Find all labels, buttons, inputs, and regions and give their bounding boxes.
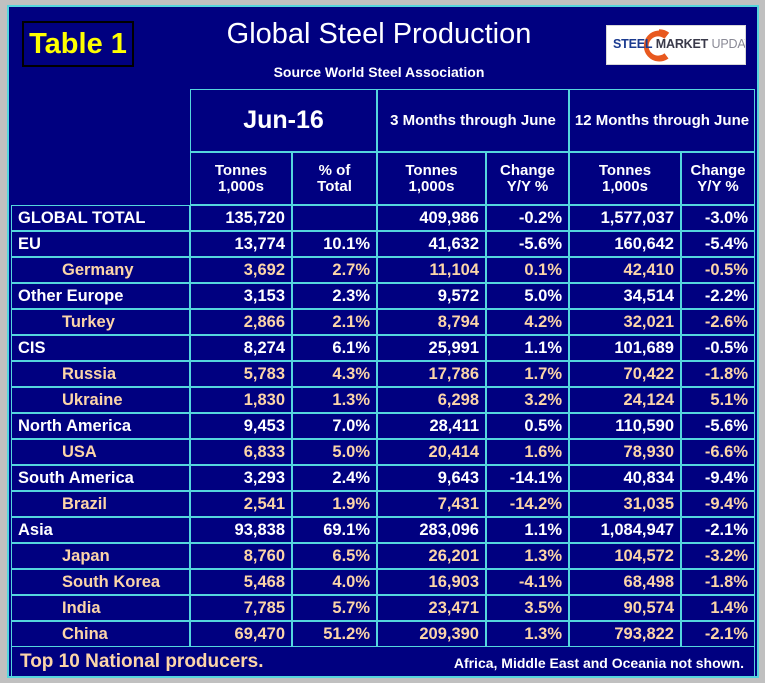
header-col-line2: 1,000s	[602, 179, 648, 195]
row-label-11: Brazil	[11, 491, 190, 517]
cell-15-jun_pct: 5.7%	[292, 595, 377, 621]
cell-11-q3_tonnes: 7,431	[377, 491, 486, 517]
cell-2-jun_pct: 2.7%	[292, 257, 377, 283]
cell-2-q3_chg: 0.1%	[486, 257, 569, 283]
header-col-line1: Tonnes	[599, 163, 651, 179]
cell-12-y12_chg: -2.1%	[681, 517, 755, 543]
cell-10-q3_tonnes: 9,643	[377, 465, 486, 491]
row-label-9: USA	[11, 439, 190, 465]
cell-1-q3_tonnes: 41,632	[377, 231, 486, 257]
header-col-5: Tonnes1,000s	[569, 152, 681, 205]
row-label-3: Other Europe	[11, 283, 190, 309]
cell-8-q3_tonnes: 28,411	[377, 413, 486, 439]
cell-12-jun_pct: 69.1%	[292, 517, 377, 543]
cell-16-q3_chg: 1.3%	[486, 621, 569, 647]
cell-11-jun_pct: 1.9%	[292, 491, 377, 517]
cell-11-y12_tonnes: 31,035	[569, 491, 681, 517]
cell-7-y12_tonnes: 24,124	[569, 387, 681, 413]
cell-4-q3_tonnes: 8,794	[377, 309, 486, 335]
cell-9-jun_tonnes: 6,833	[190, 439, 292, 465]
cell-14-jun_pct: 4.0%	[292, 569, 377, 595]
cell-9-y12_chg: -6.6%	[681, 439, 755, 465]
header-col-line2: Y/Y %	[507, 179, 548, 195]
header-col-line1: Change	[690, 163, 745, 179]
table-footer: Top 10 National producers. Africa, Middl…	[11, 646, 755, 678]
cell-2-y12_tonnes: 42,410	[569, 257, 681, 283]
footer-note-left: Top 10 National producers.	[20, 651, 264, 673]
cell-2-q3_tonnes: 11,104	[377, 257, 486, 283]
data-table: Jun-163 Months through June12 Months thr…	[9, 7, 757, 676]
cell-16-y12_tonnes: 793,822	[569, 621, 681, 647]
cell-14-q3_chg: -4.1%	[486, 569, 569, 595]
cell-10-y12_chg: -9.4%	[681, 465, 755, 491]
row-label-5: CIS	[11, 335, 190, 361]
header-col-line2: Total	[317, 179, 352, 195]
cell-13-jun_pct: 6.5%	[292, 543, 377, 569]
cell-10-jun_tonnes: 3,293	[190, 465, 292, 491]
cell-6-jun_tonnes: 5,783	[190, 361, 292, 387]
cell-5-jun_pct: 6.1%	[292, 335, 377, 361]
table-panel: Table 1 Global Steel Production Source W…	[7, 5, 759, 678]
cell-10-q3_chg: -14.1%	[486, 465, 569, 491]
header-col-line1: Tonnes	[405, 163, 457, 179]
row-label-2: Germany	[11, 257, 190, 283]
row-label-1: EU	[11, 231, 190, 257]
cell-15-y12_chg: 1.4%	[681, 595, 755, 621]
row-label-4: Turkey	[11, 309, 190, 335]
cell-14-y12_chg: -1.8%	[681, 569, 755, 595]
cell-13-y12_tonnes: 104,572	[569, 543, 681, 569]
cell-3-jun_tonnes: 3,153	[190, 283, 292, 309]
cell-13-q3_tonnes: 26,201	[377, 543, 486, 569]
cell-3-q3_chg: 5.0%	[486, 283, 569, 309]
cell-0-y12_chg: -3.0%	[681, 205, 755, 231]
cell-8-jun_tonnes: 9,453	[190, 413, 292, 439]
cell-13-jun_tonnes: 8,760	[190, 543, 292, 569]
row-label-0: GLOBAL TOTAL	[11, 205, 190, 231]
header-col-line2: 1,000s	[218, 179, 264, 195]
cell-3-jun_pct: 2.3%	[292, 283, 377, 309]
cell-9-q3_tonnes: 20,414	[377, 439, 486, 465]
cell-0-y12_tonnes: 1,577,037	[569, 205, 681, 231]
cell-11-q3_chg: -14.2%	[486, 491, 569, 517]
cell-3-y12_chg: -2.2%	[681, 283, 755, 309]
cell-10-jun_pct: 2.4%	[292, 465, 377, 491]
cell-3-q3_tonnes: 9,572	[377, 283, 486, 309]
header-col-line2: Y/Y %	[697, 179, 738, 195]
row-label-7: Ukraine	[11, 387, 190, 413]
row-label-10: South America	[11, 465, 190, 491]
cell-9-y12_tonnes: 78,930	[569, 439, 681, 465]
header-col-line1: % of	[319, 163, 351, 179]
cell-1-y12_tonnes: 160,642	[569, 231, 681, 257]
cell-8-jun_pct: 7.0%	[292, 413, 377, 439]
header-group-3: 12 Months through June	[569, 89, 755, 152]
cell-4-y12_tonnes: 32,021	[569, 309, 681, 335]
header-col-1: Tonnes1,000s	[190, 152, 292, 205]
cell-9-jun_pct: 5.0%	[292, 439, 377, 465]
header-col-2: % ofTotal	[292, 152, 377, 205]
cell-2-jun_tonnes: 3,692	[190, 257, 292, 283]
cell-8-q3_chg: 0.5%	[486, 413, 569, 439]
row-label-8: North America	[11, 413, 190, 439]
cell-6-jun_pct: 4.3%	[292, 361, 377, 387]
cell-5-jun_tonnes: 8,274	[190, 335, 292, 361]
cell-5-y12_tonnes: 101,689	[569, 335, 681, 361]
cell-1-y12_chg: -5.4%	[681, 231, 755, 257]
cell-16-y12_chg: -2.1%	[681, 621, 755, 647]
cell-7-q3_tonnes: 6,298	[377, 387, 486, 413]
cell-8-y12_tonnes: 110,590	[569, 413, 681, 439]
header-col-line1: Change	[500, 163, 555, 179]
cell-4-jun_pct: 2.1%	[292, 309, 377, 335]
cell-14-q3_tonnes: 16,903	[377, 569, 486, 595]
header-group-2: 3 Months through June	[377, 89, 569, 152]
header-col-4: ChangeY/Y %	[486, 152, 569, 205]
row-label-15: India	[11, 595, 190, 621]
cell-15-q3_chg: 3.5%	[486, 595, 569, 621]
cell-13-y12_chg: -3.2%	[681, 543, 755, 569]
cell-13-q3_chg: 1.3%	[486, 543, 569, 569]
cell-7-y12_chg: 5.1%	[681, 387, 755, 413]
cell-4-q3_chg: 4.2%	[486, 309, 569, 335]
cell-14-jun_tonnes: 5,468	[190, 569, 292, 595]
cell-7-jun_pct: 1.3%	[292, 387, 377, 413]
footer-note-right: Africa, Middle East and Oceania not show…	[454, 655, 744, 671]
cell-14-y12_tonnes: 68,498	[569, 569, 681, 595]
row-label-16: China	[11, 621, 190, 647]
cell-0-q3_chg: -0.2%	[486, 205, 569, 231]
cell-10-y12_tonnes: 40,834	[569, 465, 681, 491]
cell-12-jun_tonnes: 93,838	[190, 517, 292, 543]
header-col-line1: Tonnes	[215, 163, 267, 179]
cell-6-q3_tonnes: 17,786	[377, 361, 486, 387]
header-corner-cell	[11, 89, 190, 205]
cell-5-y12_chg: -0.5%	[681, 335, 755, 361]
cell-1-jun_pct: 10.1%	[292, 231, 377, 257]
cell-6-y12_chg: -1.8%	[681, 361, 755, 387]
cell-11-y12_chg: -9.4%	[681, 491, 755, 517]
cell-2-y12_chg: -0.5%	[681, 257, 755, 283]
cell-9-q3_chg: 1.6%	[486, 439, 569, 465]
cell-1-jun_tonnes: 13,774	[190, 231, 292, 257]
cell-16-jun_pct: 51.2%	[292, 621, 377, 647]
cell-8-y12_chg: -5.6%	[681, 413, 755, 439]
cell-5-q3_chg: 1.1%	[486, 335, 569, 361]
row-label-12: Asia	[11, 517, 190, 543]
header-col-3: Tonnes1,000s	[377, 152, 486, 205]
cell-3-y12_tonnes: 34,514	[569, 283, 681, 309]
cell-15-q3_tonnes: 23,471	[377, 595, 486, 621]
row-label-14: South Korea	[11, 569, 190, 595]
cell-0-jun_pct	[292, 205, 377, 231]
cell-4-jun_tonnes: 2,866	[190, 309, 292, 335]
header-group-1: Jun-16	[190, 89, 377, 152]
cell-11-jun_tonnes: 2,541	[190, 491, 292, 517]
cell-4-y12_chg: -2.6%	[681, 309, 755, 335]
row-label-6: Russia	[11, 361, 190, 387]
cell-12-y12_tonnes: 1,084,947	[569, 517, 681, 543]
cell-12-q3_chg: 1.1%	[486, 517, 569, 543]
cell-16-q3_tonnes: 209,390	[377, 621, 486, 647]
row-label-13: Japan	[11, 543, 190, 569]
cell-16-jun_tonnes: 69,470	[190, 621, 292, 647]
cell-12-q3_tonnes: 283,096	[377, 517, 486, 543]
cell-1-q3_chg: -5.6%	[486, 231, 569, 257]
cell-15-jun_tonnes: 7,785	[190, 595, 292, 621]
cell-6-q3_chg: 1.7%	[486, 361, 569, 387]
cell-0-jun_tonnes: 135,720	[190, 205, 292, 231]
cell-5-q3_tonnes: 25,991	[377, 335, 486, 361]
cell-0-q3_tonnes: 409,986	[377, 205, 486, 231]
header-col-line2: 1,000s	[409, 179, 455, 195]
cell-7-jun_tonnes: 1,830	[190, 387, 292, 413]
cell-7-q3_chg: 3.2%	[486, 387, 569, 413]
header-col-6: ChangeY/Y %	[681, 152, 755, 205]
cell-15-y12_tonnes: 90,574	[569, 595, 681, 621]
cell-6-y12_tonnes: 70,422	[569, 361, 681, 387]
